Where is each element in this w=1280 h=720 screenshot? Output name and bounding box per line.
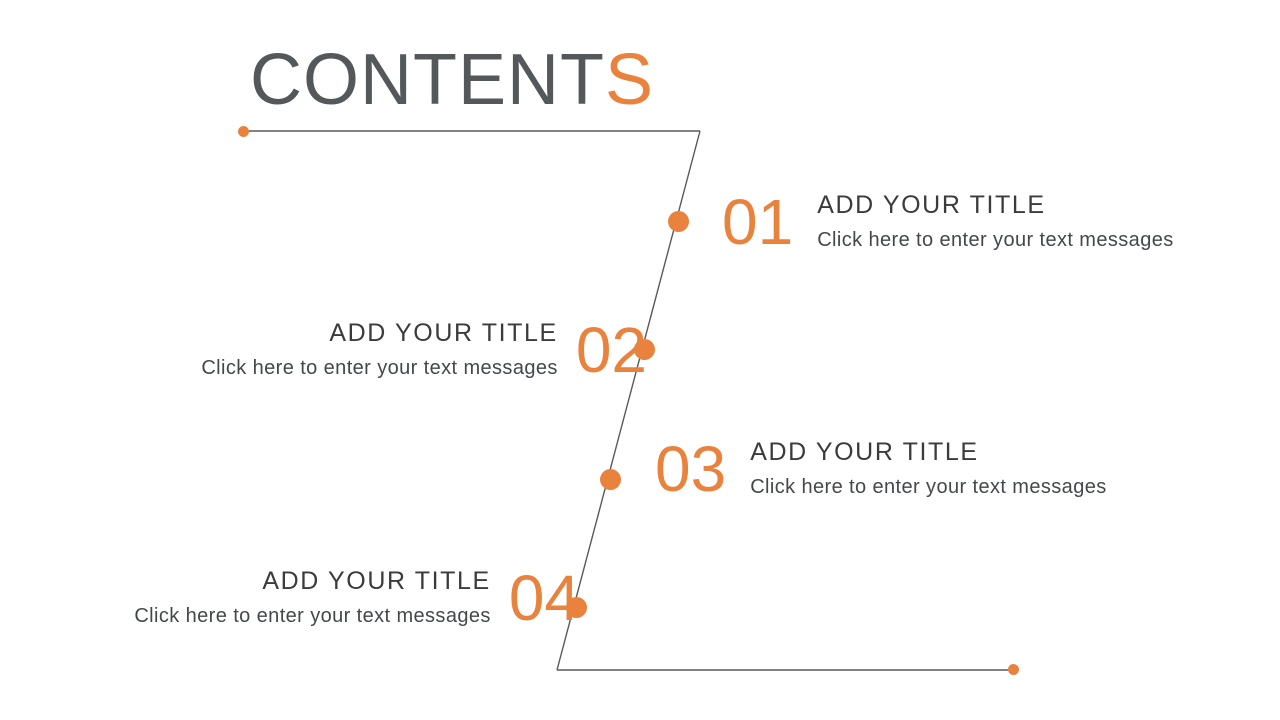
item-text-block-04: ADD YOUR TITLE Click here to enter your … xyxy=(134,566,490,629)
item-text-block-01: ADD YOUR TITLE Click here to enter your … xyxy=(817,190,1173,253)
item-number-03: 03 xyxy=(655,437,726,501)
item-number-02: 02 xyxy=(576,318,647,382)
line-end-dot xyxy=(1008,664,1019,675)
slide-canvas: CONTENTS 01 ADD YOUR TITLE Click here to… xyxy=(0,0,1280,720)
item-description-02: Click here to enter your text messages xyxy=(201,355,557,382)
item-description-03: Click here to enter your text messages xyxy=(750,474,1106,501)
item-description-01: Click here to enter your text messages xyxy=(817,227,1173,254)
content-item-02[interactable]: ADD YOUR TITLE Click here to enter your … xyxy=(201,318,647,382)
item-title-01: ADD YOUR TITLE xyxy=(817,190,1045,221)
node-dot-03[interactable] xyxy=(600,469,621,490)
line-start-dot xyxy=(238,126,249,137)
item-text-block-03: ADD YOUR TITLE Click here to enter your … xyxy=(750,437,1106,500)
item-title-03: ADD YOUR TITLE xyxy=(750,437,978,468)
item-description-04: Click here to enter your text messages xyxy=(134,603,490,630)
item-number-04: 04 xyxy=(509,566,580,630)
content-item-04[interactable]: ADD YOUR TITLE Click here to enter your … xyxy=(134,566,580,630)
item-title-02: ADD YOUR TITLE xyxy=(329,318,557,349)
item-number-01: 01 xyxy=(722,190,793,254)
content-item-03[interactable]: 03 ADD YOUR TITLE Click here to enter yo… xyxy=(655,437,1107,501)
item-text-block-02: ADD YOUR TITLE Click here to enter your … xyxy=(201,318,557,381)
node-dot-01[interactable] xyxy=(668,211,689,232)
content-item-01[interactable]: 01 ADD YOUR TITLE Click here to enter yo… xyxy=(722,190,1174,254)
item-title-04: ADD YOUR TITLE xyxy=(262,566,490,597)
